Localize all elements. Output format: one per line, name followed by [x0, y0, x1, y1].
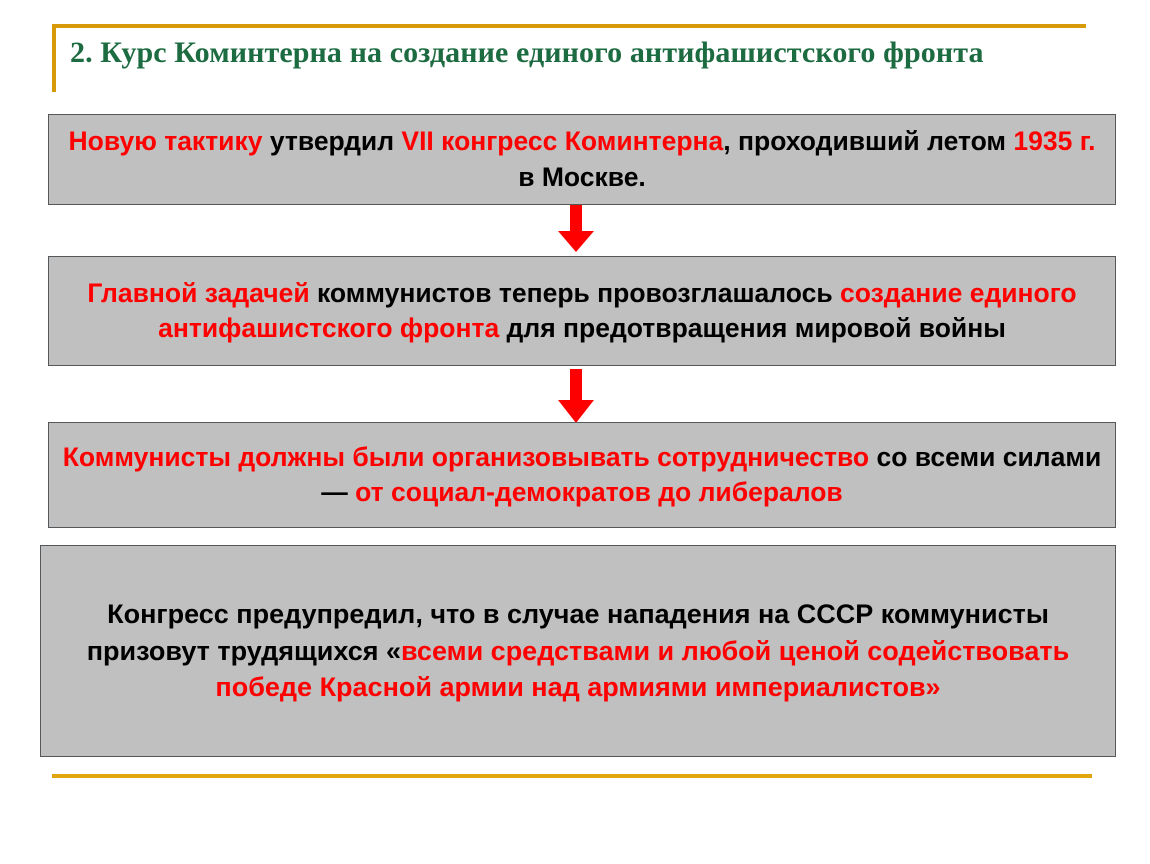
slide-bottom-rule [52, 774, 1092, 778]
title-top-rule [52, 24, 1086, 28]
fact-box-congress-warning: Конгресс предупредил, что в случае напад… [40, 545, 1116, 757]
fact-box-text: Конгресс предупредил, что в случае напад… [51, 596, 1105, 706]
title-left-rule [52, 24, 56, 92]
arrow-down-icon [554, 369, 598, 423]
arrow-down-icon [554, 205, 598, 252]
fact-box-cooperation: Коммунисты должны были организовывать со… [48, 422, 1116, 528]
fact-box-text: Новую тактику утвердил VII конгресс Коми… [59, 124, 1105, 194]
fact-box-text: Главной задачей коммунистов теперь прово… [59, 276, 1105, 346]
page-title: 2. Курс Коминтерна на создание единого а… [70, 36, 1130, 70]
fact-box-text: Коммунисты должны были организовывать со… [59, 440, 1105, 510]
fact-box-new-tactics: Новую тактику утвердил VII конгресс Коми… [48, 114, 1116, 205]
fact-box-main-task: Главной задачей коммунистов теперь прово… [48, 256, 1116, 366]
